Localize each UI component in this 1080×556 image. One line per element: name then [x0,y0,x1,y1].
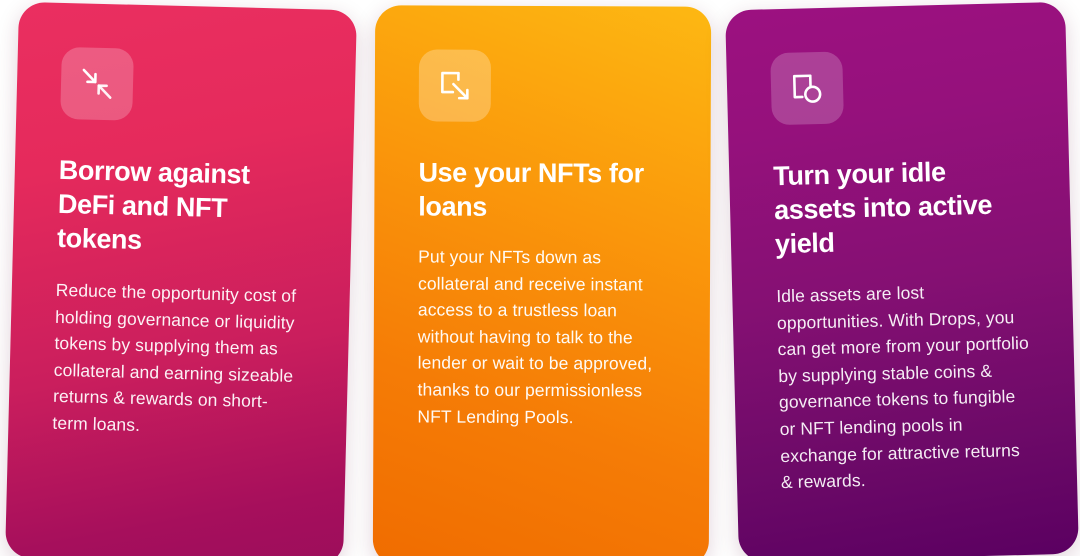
card-heading-nft: Use your NFTs for loans [418,155,666,224]
rectangle-circle-assets-icon [788,69,827,108]
feature-cards-stage: Borrow against DeFi and NFT tokens Reduc… [0,0,1080,556]
icon-tile-nft [419,49,491,121]
icon-tile-yield [770,51,844,125]
collapse-arrows-icon [78,64,117,103]
icon-tile-borrow [60,47,134,121]
card-body-yield: Idle assets are lost opportunities. With… [776,277,1033,496]
feature-card-borrow[interactable]: Borrow against DeFi and NFT tokens Reduc… [5,2,357,556]
card-heading-yield: Turn your idle assets into active yield [773,153,1028,261]
card-body-borrow: Reduce the opportunity cost of holding g… [52,277,306,443]
feature-card-nft[interactable]: Use your NFTs for loans Put your NFTs do… [373,5,711,556]
document-export-arrow-icon [436,67,474,105]
feature-card-yield[interactable]: Turn your idle assets into active yield … [725,2,1079,556]
card-heading-borrow: Borrow against DeFi and NFT tokens [57,153,310,261]
card-body-nft: Put your NFTs down as collateral and rec… [417,243,666,430]
